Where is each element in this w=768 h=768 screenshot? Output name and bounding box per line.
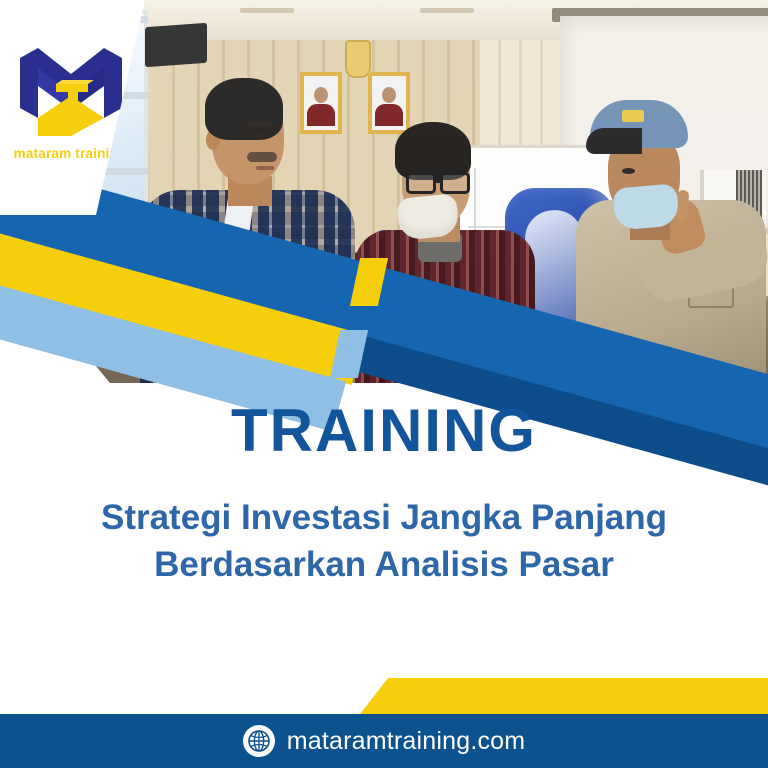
subtitle-line-2: Berdasarkan Analisis Pasar — [0, 541, 768, 588]
subtitle-line-1: Strategi Investasi Jangka Panjang — [0, 494, 768, 541]
training-flyer: mataram training TRAINING Strategi Inves… — [0, 0, 768, 768]
page-title: TRAINING — [0, 396, 768, 465]
mataram-m-logo-icon — [16, 40, 126, 140]
website-url[interactable]: mataramtraining.com — [287, 727, 526, 756]
page-subtitle: Strategi Investasi Jangka Panjang Berdas… — [0, 494, 768, 589]
globe-icon — [243, 725, 275, 757]
footer-yellow-accent — [360, 678, 768, 714]
footer-bar: mataramtraining.com — [0, 714, 768, 768]
